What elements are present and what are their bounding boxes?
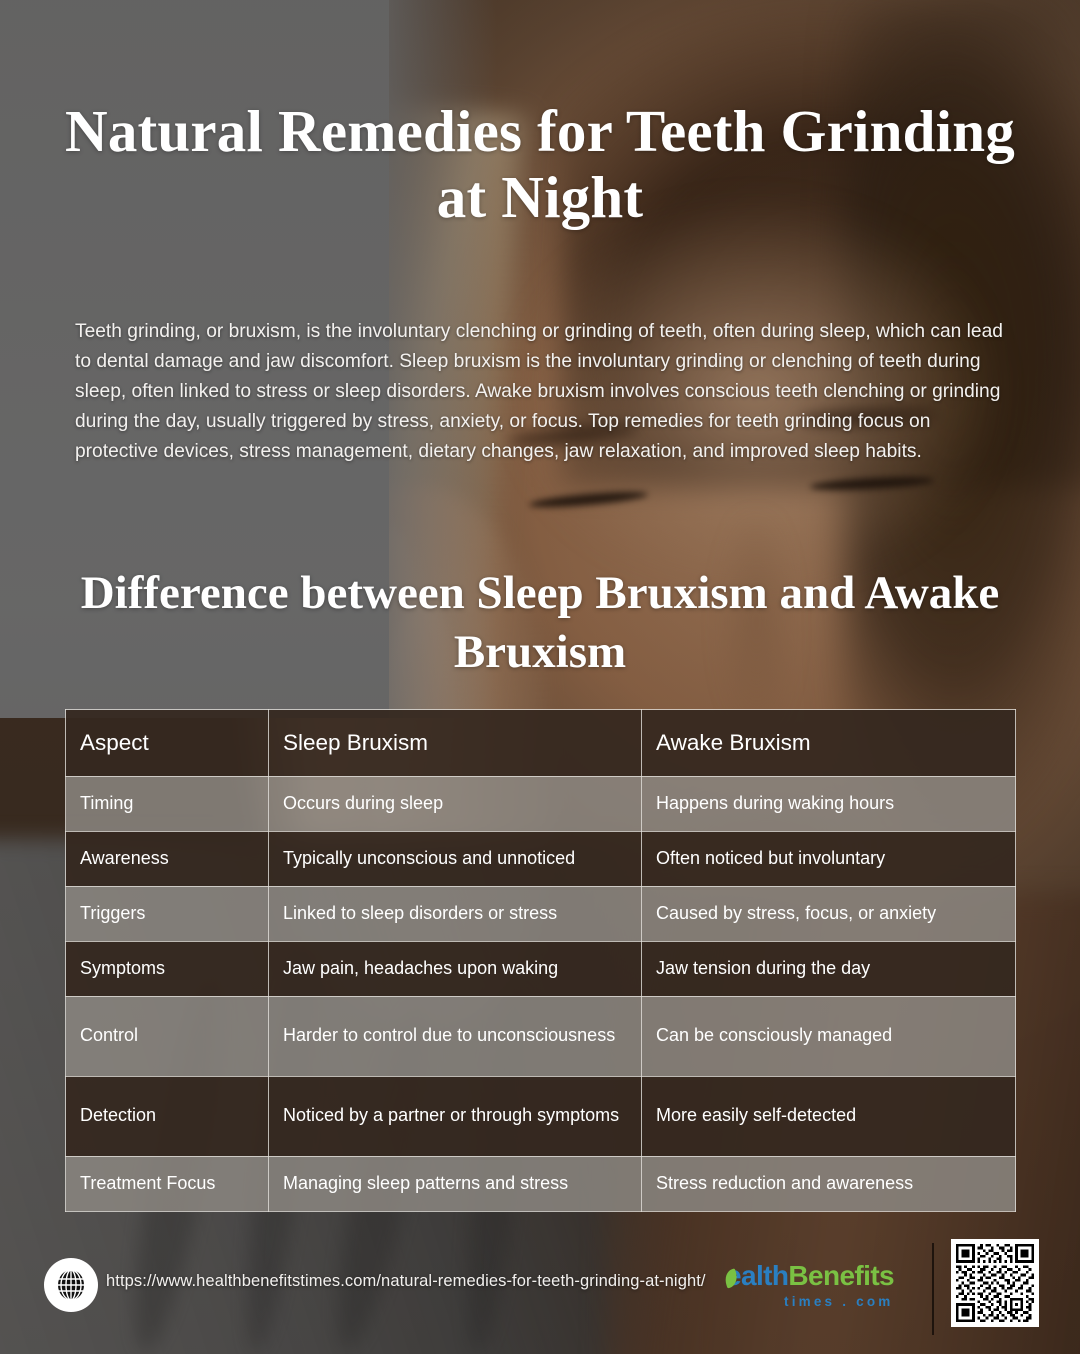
cell-aspect: Triggers: [66, 886, 269, 941]
cell-awake: Often noticed but involuntary: [642, 831, 1016, 886]
table-head: Aspect Sleep Bruxism Awake Bruxism: [66, 710, 1016, 777]
column-header-sleep-bruxism: Sleep Bruxism: [269, 710, 642, 777]
globe-icon: [44, 1258, 98, 1312]
table-row: Treatment Focus Managing sleep patterns …: [66, 1156, 1016, 1211]
table-row: Detection Noticed by a partner or throug…: [66, 1076, 1016, 1156]
table-row: Symptoms Jaw pain, headaches upon waking…: [66, 941, 1016, 996]
infographic-poster: Natural Remedies for Teeth Grinding at N…: [0, 0, 1080, 1354]
table-row: Control Harder to control due to unconsc…: [66, 996, 1016, 1076]
brand-logo: ealthBenefits times . com: [724, 1262, 919, 1314]
cell-aspect: Control: [66, 996, 269, 1076]
poster-content: Natural Remedies for Teeth Grinding at N…: [0, 0, 1080, 1354]
cell-aspect: Symptoms: [66, 941, 269, 996]
cell-aspect: Awareness: [66, 831, 269, 886]
table-header-row: Aspect Sleep Bruxism Awake Bruxism: [66, 710, 1016, 777]
page-title: Natural Remedies for Teeth Grinding at N…: [60, 98, 1020, 230]
cell-awake: Caused by stress, focus, or anxiety: [642, 886, 1016, 941]
brand-tagline: times . com: [784, 1295, 919, 1309]
column-header-awake-bruxism: Awake Bruxism: [642, 710, 1016, 777]
cell-aspect: Timing: [66, 776, 269, 831]
footer-divider: [932, 1243, 934, 1335]
cell-awake: More easily self-detected: [642, 1076, 1016, 1156]
table-body: Timing Occurs during sleep Happens durin…: [66, 776, 1016, 1211]
table-row: Timing Occurs during sleep Happens durin…: [66, 776, 1016, 831]
comparison-table: Aspect Sleep Bruxism Awake Bruxism Timin…: [65, 709, 1016, 1212]
cell-sleep: Harder to control due to unconsciousness: [269, 996, 642, 1076]
cell-sleep: Jaw pain, headaches upon waking: [269, 941, 642, 996]
cell-sleep: Occurs during sleep: [269, 776, 642, 831]
brand-benefits: Benefits: [788, 1260, 894, 1291]
cell-sleep: Typically unconscious and unnoticed: [269, 831, 642, 886]
column-header-aspect: Aspect: [66, 710, 269, 777]
cell-sleep: Managing sleep patterns and stress: [269, 1156, 642, 1211]
cell-awake: Can be consciously managed: [642, 996, 1016, 1076]
qr-code[interactable]: [951, 1239, 1039, 1327]
intro-paragraph: Teeth grinding, or bruxism, is the invol…: [75, 317, 1003, 467]
cell-sleep: Noticed by a partner or through symptoms: [269, 1076, 642, 1156]
cell-aspect: Detection: [66, 1076, 269, 1156]
cell-awake: Happens during waking hours: [642, 776, 1016, 831]
table-row: Triggers Linked to sleep disorders or st…: [66, 886, 1016, 941]
cell-awake: Jaw tension during the day: [642, 941, 1016, 996]
section-heading: Difference between Sleep Bruxism and Awa…: [40, 564, 1040, 682]
cell-sleep: Linked to sleep disorders or stress: [269, 886, 642, 941]
table-row: Awareness Typically unconscious and unno…: [66, 831, 1016, 886]
brand-wordmark: ealthBenefits: [724, 1262, 919, 1290]
cell-aspect: Treatment Focus: [66, 1156, 269, 1211]
source-url[interactable]: https://www.healthbenefitstimes.com/natu…: [106, 1272, 706, 1291]
cell-awake: Stress reduction and awareness: [642, 1156, 1016, 1211]
